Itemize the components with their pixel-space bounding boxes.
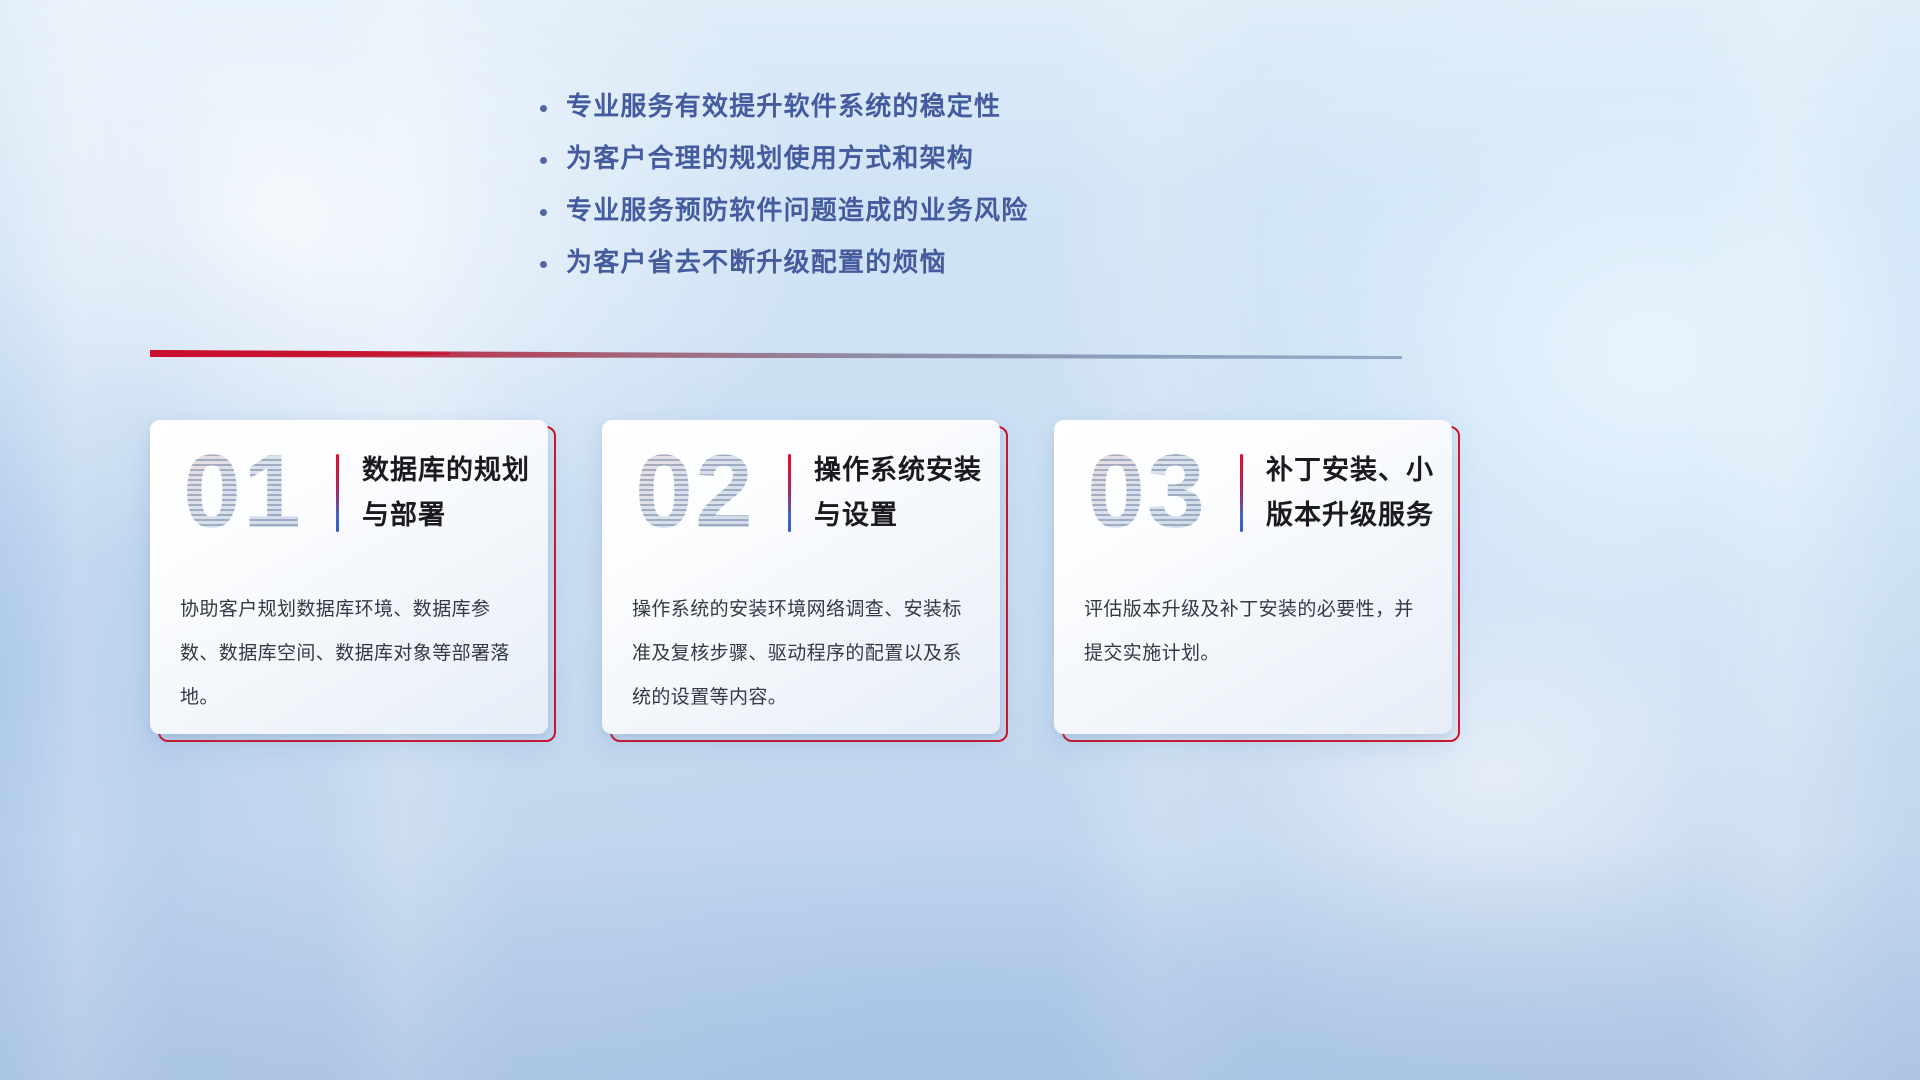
card-header: 02 操作系统安装 与设置: [602, 420, 1000, 570]
bullet-dot-icon: [540, 247, 566, 268]
service-card-row: 01 数据库的规划 与部署 协助客户规划数据库环境、数据库参数、数据库空间、数据…: [150, 420, 1460, 748]
card-title-line-1: 数据库的规划: [362, 448, 542, 493]
list-item: 为客户省去不断升级配置的烦恼: [540, 242, 1160, 294]
card-title-rule: [1240, 454, 1243, 532]
card-header: 03 补丁安装、小 版本升级服务: [1054, 420, 1452, 570]
card-title: 操作系统安装 与设置: [814, 448, 994, 538]
card-title: 补丁安装、小 版本升级服务: [1266, 448, 1446, 538]
bullet-dot-icon: [540, 91, 566, 112]
slide-canvas: 专业服务有效提升软件系统的稳定性 为客户合理的规划使用方式和架构 专业服务预防软…: [0, 0, 1920, 1080]
service-card[interactable]: 01 数据库的规划 与部署 协助客户规划数据库环境、数据库参数、数据库空间、数据…: [150, 420, 556, 742]
card-number-watermark: 01: [168, 434, 318, 550]
card-title-line-2: 版本升级服务: [1266, 493, 1446, 538]
bullet-text: 为客户省去不断升级配置的烦恼: [566, 242, 947, 279]
bullet-dot-icon: [540, 195, 566, 216]
card-title-line-1: 补丁安装、小: [1266, 448, 1446, 493]
card-body-text: 协助客户规划数据库环境、数据库参数、数据库空间、数据库对象等部署落地。: [180, 588, 522, 720]
bullet-text: 为客户合理的规划使用方式和架构: [566, 138, 974, 175]
card-body-text: 操作系统的安装环境网络调查、安装标准及复核步骤、驱动程序的配置以及系统的设置等内…: [632, 588, 974, 720]
card-number-watermark: 03: [1072, 434, 1222, 550]
benefit-bullet-list: 专业服务有效提升软件系统的稳定性 为客户合理的规划使用方式和架构 专业服务预防软…: [540, 86, 1160, 294]
list-item: 专业服务有效提升软件系统的稳定性: [540, 86, 1160, 138]
divider-shape: [150, 348, 1402, 362]
service-card[interactable]: 03 补丁安装、小 版本升级服务 评估版本升级及补丁安装的必要性，并提交实施计划…: [1054, 420, 1460, 742]
bullet-dot-icon: [540, 143, 566, 164]
card-title: 数据库的规划 与部署: [362, 448, 542, 538]
section-divider: [150, 348, 1402, 362]
card-surface: 02 操作系统安装 与设置 操作系统的安装环境网络调查、安装标准及复核步骤、驱动…: [602, 420, 1000, 734]
card-surface: 03 补丁安装、小 版本升级服务 评估版本升级及补丁安装的必要性，并提交实施计划…: [1054, 420, 1452, 734]
card-title-line-2: 与设置: [814, 493, 994, 538]
bullet-text: 专业服务有效提升软件系统的稳定性: [566, 86, 1001, 123]
service-card[interactable]: 02 操作系统安装 与设置 操作系统的安装环境网络调查、安装标准及复核步骤、驱动…: [602, 420, 1008, 742]
card-header: 01 数据库的规划 与部署: [150, 420, 548, 570]
card-title-line-2: 与部署: [362, 493, 542, 538]
card-number-watermark: 02: [620, 434, 770, 550]
list-item: 为客户合理的规划使用方式和架构: [540, 138, 1160, 190]
card-title-rule: [788, 454, 791, 532]
list-item: 专业服务预防软件问题造成的业务风险: [540, 190, 1160, 242]
card-title-line-1: 操作系统安装: [814, 448, 994, 493]
card-surface: 01 数据库的规划 与部署 协助客户规划数据库环境、数据库参数、数据库空间、数据…: [150, 420, 548, 734]
card-body-text: 评估版本升级及补丁安装的必要性，并提交实施计划。: [1084, 588, 1426, 676]
bullet-text: 专业服务预防软件问题造成的业务风险: [566, 190, 1028, 227]
card-title-rule: [336, 454, 339, 532]
